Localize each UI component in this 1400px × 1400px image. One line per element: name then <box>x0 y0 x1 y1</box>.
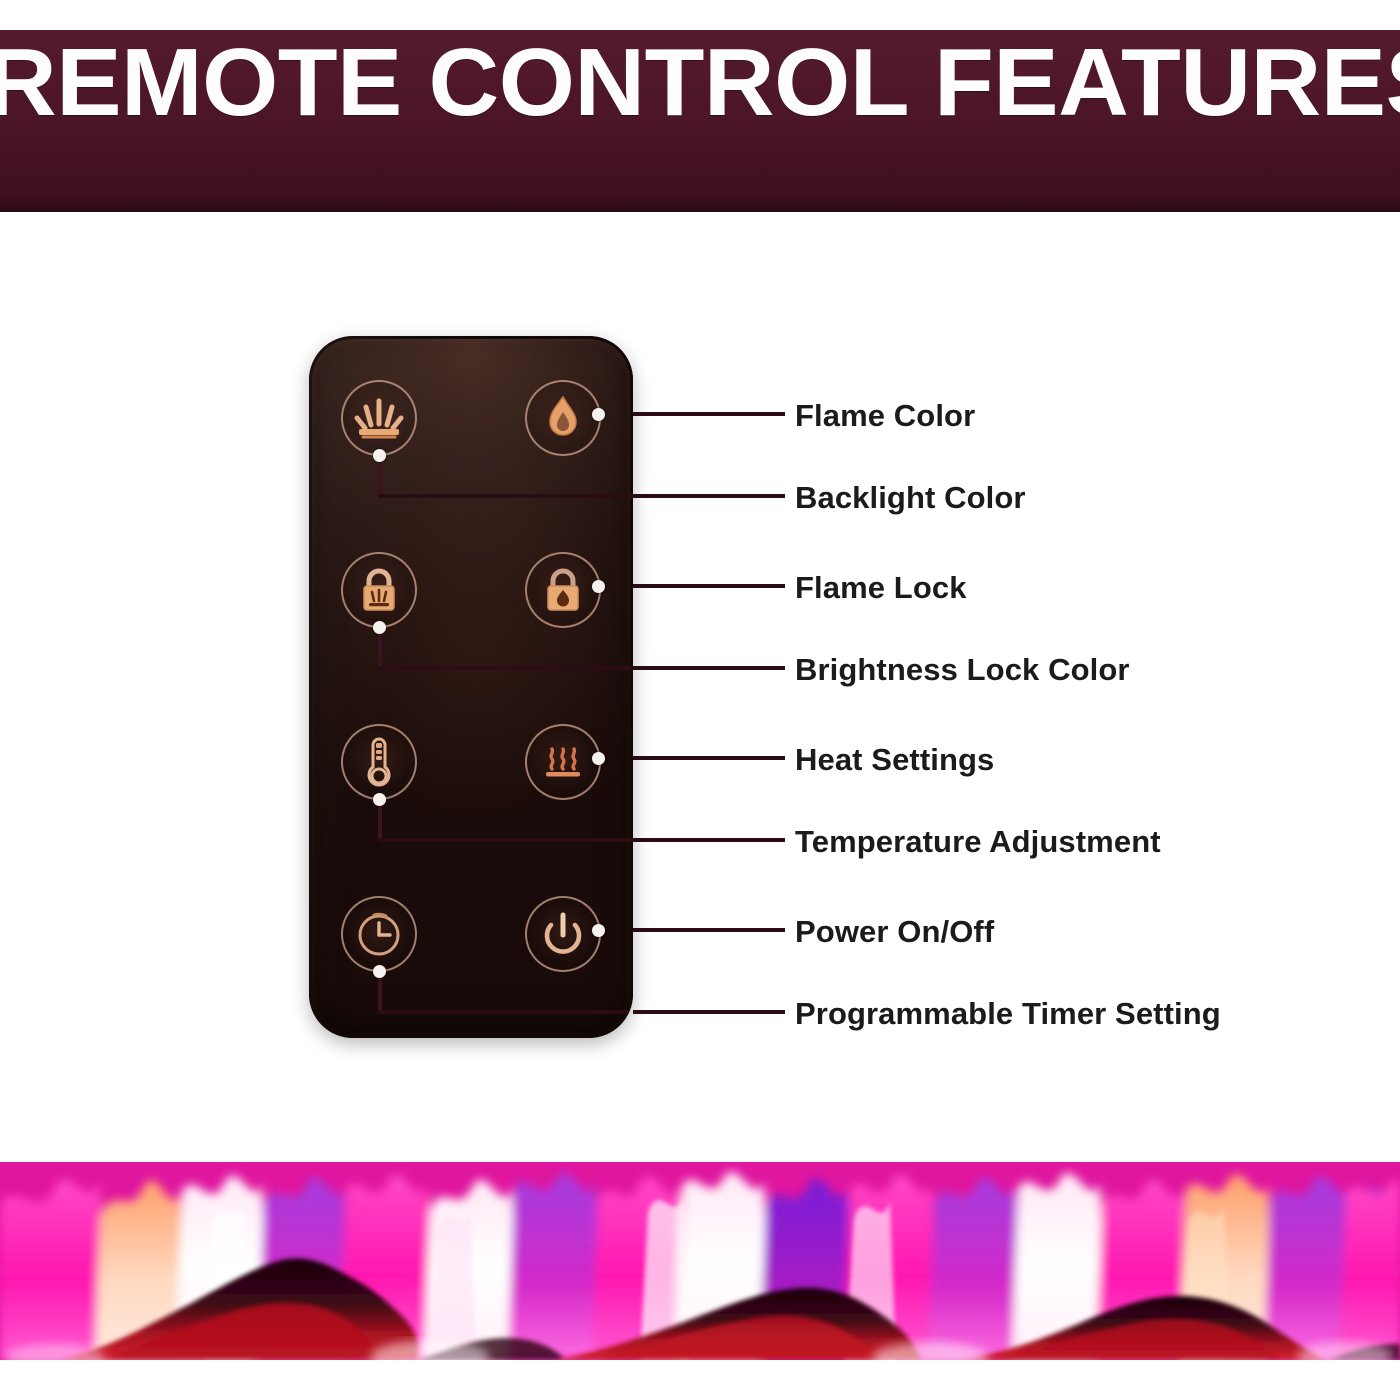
callout-dot-timer <box>373 965 386 978</box>
callout-dot-power <box>592 924 605 937</box>
button-flame-lock[interactable] <box>525 552 601 628</box>
callout-dot-temperature <box>373 793 386 806</box>
leader-temperature <box>633 838 785 842</box>
label-backlight-color: Backlight Color <box>795 482 1026 513</box>
lock-flame-icon <box>539 565 587 615</box>
page-root: REMOTE CONTROL FEATURES <box>0 0 1400 1400</box>
leader-v-temperature <box>378 800 382 840</box>
thermometer-icon <box>362 735 396 789</box>
button-flame-color[interactable] <box>525 380 601 456</box>
header-banner: REMOTE CONTROL FEATURES <box>0 30 1400 212</box>
button-heat-settings[interactable] <box>525 724 601 800</box>
leader-power <box>633 928 785 932</box>
callout-dot-brightness-lock <box>373 621 386 634</box>
remote-control <box>309 336 633 1038</box>
leader-h-brightness-lock-inner <box>378 666 633 670</box>
leader-v-brightness-lock <box>378 628 382 668</box>
leader-heat-settings <box>633 756 785 760</box>
button-temperature[interactable] <box>341 724 417 800</box>
leader-flame-color <box>633 412 785 416</box>
button-brightness-lock[interactable] <box>341 552 417 628</box>
leader-flame-lock <box>633 584 785 588</box>
fireplace-flame-image <box>0 1162 1400 1360</box>
leader-h-temperature-inner <box>378 838 633 842</box>
leader-v-backlight-color <box>378 456 382 496</box>
leader-h-timer-inner <box>378 1010 633 1014</box>
callout-dot-heat-settings <box>592 752 605 765</box>
leader-v-timer <box>378 972 382 1012</box>
page-title: REMOTE CONTROL FEATURES <box>0 30 1400 139</box>
leader-backlight-color <box>633 494 785 498</box>
label-brightness-lock-color: Brightness Lock Color <box>795 654 1130 685</box>
label-programmable-timer-setting: Programmable Timer Setting <box>795 998 1221 1029</box>
label-power-on-off: Power On/Off <box>795 916 994 947</box>
flame-icon <box>544 395 582 441</box>
callout-dot-backlight-color <box>373 449 386 462</box>
leader-h-backlight-color-inner <box>378 494 633 498</box>
leader-brightness-lock <box>633 666 785 670</box>
clock-icon <box>354 909 404 959</box>
label-flame-color: Flame Color <box>795 400 975 431</box>
power-icon <box>541 911 585 957</box>
label-temperature-adjustment: Temperature Adjustment <box>795 826 1161 857</box>
backlight-rays-icon <box>353 393 405 443</box>
button-backlight-color[interactable] <box>341 380 417 456</box>
button-timer[interactable] <box>341 896 417 972</box>
leader-timer <box>633 1010 785 1014</box>
heat-waves-icon <box>540 739 586 785</box>
button-power[interactable] <box>525 896 601 972</box>
label-heat-settings: Heat Settings <box>795 744 994 775</box>
label-flame-lock: Flame Lock <box>795 572 967 603</box>
lock-brightness-icon <box>355 565 403 615</box>
callout-dot-flame-color <box>592 408 605 421</box>
flame-graphic <box>0 1162 1400 1360</box>
callout-dot-flame-lock <box>592 580 605 593</box>
